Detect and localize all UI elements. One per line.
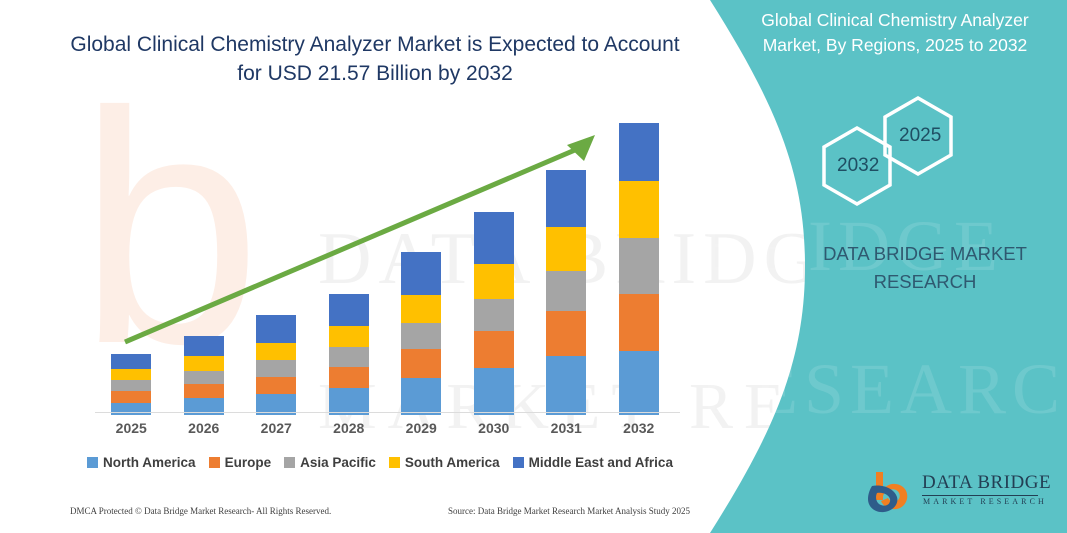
bar-segment-middle-east-and-africa[interactable] (401, 252, 441, 295)
bar-segment-south-america[interactable] (546, 227, 586, 270)
bar-2027[interactable] (256, 315, 296, 415)
bar-segment-europe[interactable] (401, 349, 441, 378)
footer-copyright: DMCA Protected © Data Bridge Market Rese… (70, 506, 331, 516)
bar-segment-north-america[interactable] (619, 351, 659, 415)
footer: DMCA Protected © Data Bridge Market Rese… (70, 506, 690, 516)
page-title-line2: for USD 21.57 Billion by 2032 (60, 59, 690, 88)
infographic-root: b DATA BRIDGE MARKET RESEARCH Global Cli… (0, 0, 1067, 533)
x-axis-labels: 20252026202720282029203020312032 (95, 420, 680, 444)
bar-segment-europe[interactable] (546, 311, 586, 356)
legend-label: Europe (225, 455, 272, 470)
legend-item-north-america[interactable]: North America (87, 455, 196, 470)
data-bridge-logo: DATA BRIDGE MARKET RESEARCH (866, 470, 1041, 518)
x-tick-2032: 2032 (609, 420, 669, 436)
legend-swatch (87, 457, 98, 468)
chart-legend: North AmericaEuropeAsia PacificSouth Ame… (60, 455, 700, 470)
legend-label: Middle East and Africa (529, 455, 673, 470)
bar-segment-south-america[interactable] (329, 326, 369, 347)
footer-source: Source: Data Bridge Market Research Mark… (448, 506, 690, 516)
legend-label: South America (405, 455, 500, 470)
bar-segment-europe[interactable] (184, 384, 224, 398)
x-tick-2028: 2028 (319, 420, 379, 436)
hexagon-left-label: 2032 (837, 155, 879, 177)
logo-divider (922, 495, 1038, 496)
legend-label: North America (103, 455, 196, 470)
legend-item-asia-pacific[interactable]: Asia Pacific (284, 455, 376, 470)
legend-label: Asia Pacific (300, 455, 376, 470)
bar-segment-south-america[interactable] (401, 295, 441, 323)
panel-brand-line1: DATA BRIDGE MARKET (790, 240, 1060, 268)
bar-2026[interactable] (184, 336, 224, 415)
bar-segment-middle-east-and-africa[interactable] (184, 336, 224, 357)
bar-segment-asia-pacific[interactable] (619, 238, 659, 295)
bar-2032[interactable] (619, 123, 659, 415)
bar-segment-asia-pacific[interactable] (256, 360, 296, 377)
legend-swatch (513, 457, 524, 468)
logo-sub-text: MARKET RESEARCH (923, 497, 1047, 506)
legend-swatch (284, 457, 295, 468)
page-title: Global Clinical Chemistry Analyzer Marke… (60, 30, 690, 88)
x-tick-2026: 2026 (174, 420, 234, 436)
bar-segment-asia-pacific[interactable] (111, 380, 151, 391)
panel-title: Global Clinical Chemistry Analyzer Marke… (735, 8, 1055, 58)
legend-swatch (209, 457, 220, 468)
bar-segment-asia-pacific[interactable] (546, 271, 586, 311)
bar-segment-europe[interactable] (256, 377, 296, 395)
bar-2029[interactable] (401, 252, 441, 415)
bar-segment-europe[interactable] (111, 391, 151, 402)
bar-segment-north-america[interactable] (546, 356, 586, 415)
x-tick-2029: 2029 (391, 420, 451, 436)
bar-segment-south-america[interactable] (474, 264, 514, 299)
bar-segment-asia-pacific[interactable] (329, 347, 369, 367)
bar-segment-north-america[interactable] (474, 368, 514, 415)
bar-segment-europe[interactable] (619, 294, 659, 351)
bar-2030[interactable] (474, 212, 514, 415)
data-bridge-logo-mark-icon (866, 470, 918, 516)
bar-segment-europe[interactable] (329, 367, 369, 389)
hexagon-right-label: 2025 (899, 125, 941, 147)
panel-title-line2: Market, By Regions, 2025 to 2032 (735, 33, 1055, 58)
legend-item-south-america[interactable]: South America (389, 455, 500, 470)
bar-2031[interactable] (546, 170, 586, 415)
panel-brand-text: DATA BRIDGE MARKET RESEARCH (790, 240, 1060, 296)
chart-baseline (95, 412, 680, 413)
x-tick-2027: 2027 (246, 420, 306, 436)
legend-item-europe[interactable]: Europe (209, 455, 272, 470)
bar-segment-middle-east-and-africa[interactable] (256, 315, 296, 343)
bar-segment-north-america[interactable] (401, 378, 441, 415)
bar-segment-asia-pacific[interactable] (474, 299, 514, 331)
bar-segment-middle-east-and-africa[interactable] (474, 212, 514, 265)
bar-segment-asia-pacific[interactable] (401, 323, 441, 349)
bar-segment-south-america[interactable] (256, 343, 296, 361)
legend-item-middle-east-and-africa[interactable]: Middle East and Africa (513, 455, 673, 470)
bar-segment-south-america[interactable] (111, 369, 151, 380)
x-tick-2030: 2030 (464, 420, 524, 436)
logo-main-text: DATA BRIDGE (922, 472, 1051, 494)
bar-2028[interactable] (329, 294, 369, 415)
bar-segment-middle-east-and-africa[interactable] (111, 354, 151, 368)
hexagon-badges: 2025 2032 (815, 90, 1005, 220)
bar-segment-middle-east-and-africa[interactable] (619, 123, 659, 181)
bar-segment-middle-east-and-africa[interactable] (329, 294, 369, 326)
bar-segment-south-america[interactable] (619, 181, 659, 238)
bar-segment-asia-pacific[interactable] (184, 371, 224, 384)
page-title-line1: Global Clinical Chemistry Analyzer Marke… (60, 30, 690, 59)
x-tick-2025: 2025 (101, 420, 161, 436)
panel-brand-line2: RESEARCH (790, 268, 1060, 296)
bar-2025[interactable] (111, 354, 151, 415)
panel-title-line1: Global Clinical Chemistry Analyzer (735, 8, 1055, 33)
bar-segment-north-america[interactable] (111, 403, 151, 415)
bar-segment-north-america[interactable] (329, 388, 369, 415)
x-tick-2031: 2031 (536, 420, 596, 436)
bar-segment-europe[interactable] (474, 331, 514, 367)
bar-segment-middle-east-and-africa[interactable] (546, 170, 586, 227)
stacked-bar-chart (95, 120, 675, 415)
bar-segment-south-america[interactable] (184, 356, 224, 370)
legend-swatch (389, 457, 400, 468)
